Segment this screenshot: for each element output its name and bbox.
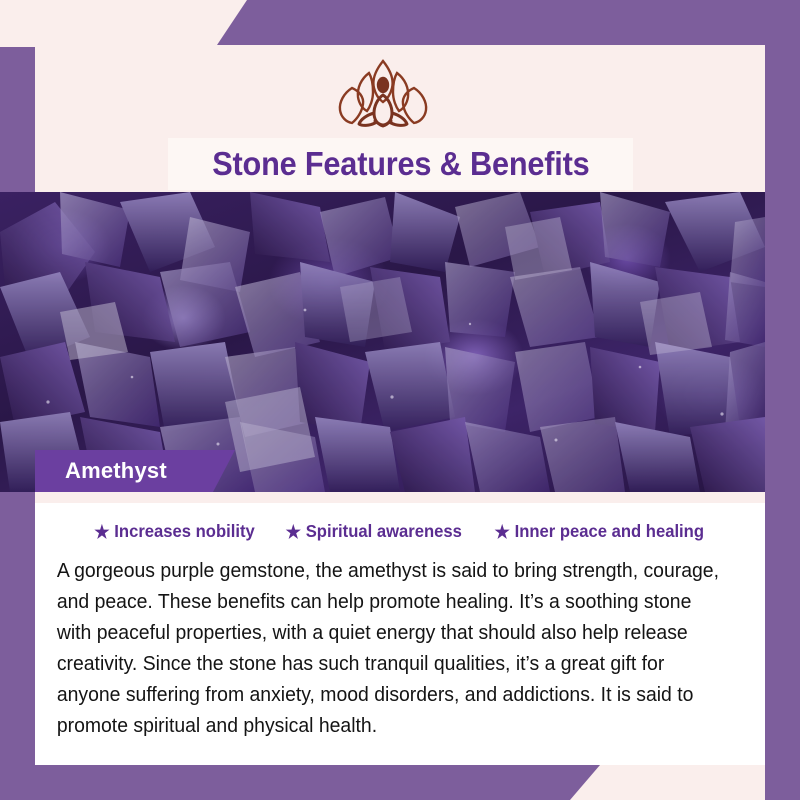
infographic-page: BUDDHA STONES Stone Features & Benefits [0, 0, 800, 800]
lotus-meditation-figure-icon [317, 55, 449, 143]
star-icon: ★ [495, 523, 510, 541]
frame-band-bottom [0, 765, 600, 800]
star-icon: ★ [95, 523, 110, 541]
page-title: Stone Features & Benefits [212, 145, 589, 183]
stone-name-label: Amethyst [35, 458, 167, 484]
benefit-label: Spiritual awareness [306, 521, 462, 542]
content-card: ★ Increases nobility ★ Spiritual awarene… [35, 503, 765, 765]
benefit-label: Inner peace and healing [515, 521, 704, 542]
frame-band-top [217, 0, 800, 45]
benefit-label: Increases nobility [115, 521, 255, 542]
benefit-item: ★ Inner peace and healing [495, 521, 704, 542]
stone-description: A gorgeous purple gemstone, the amethyst… [51, 556, 728, 742]
benefits-list: ★ Increases nobility ★ Spiritual awarene… [51, 521, 749, 542]
amethyst-crystal-cluster-photo [0, 192, 765, 492]
benefit-item: ★ Spiritual awareness [286, 521, 462, 542]
star-icon: ★ [286, 523, 301, 541]
benefit-item: ★ Increases nobility [95, 521, 256, 542]
frame-band-right [765, 0, 800, 800]
stone-name-badge: Amethyst [35, 450, 235, 492]
title-banner: Stone Features & Benefits [168, 138, 633, 190]
